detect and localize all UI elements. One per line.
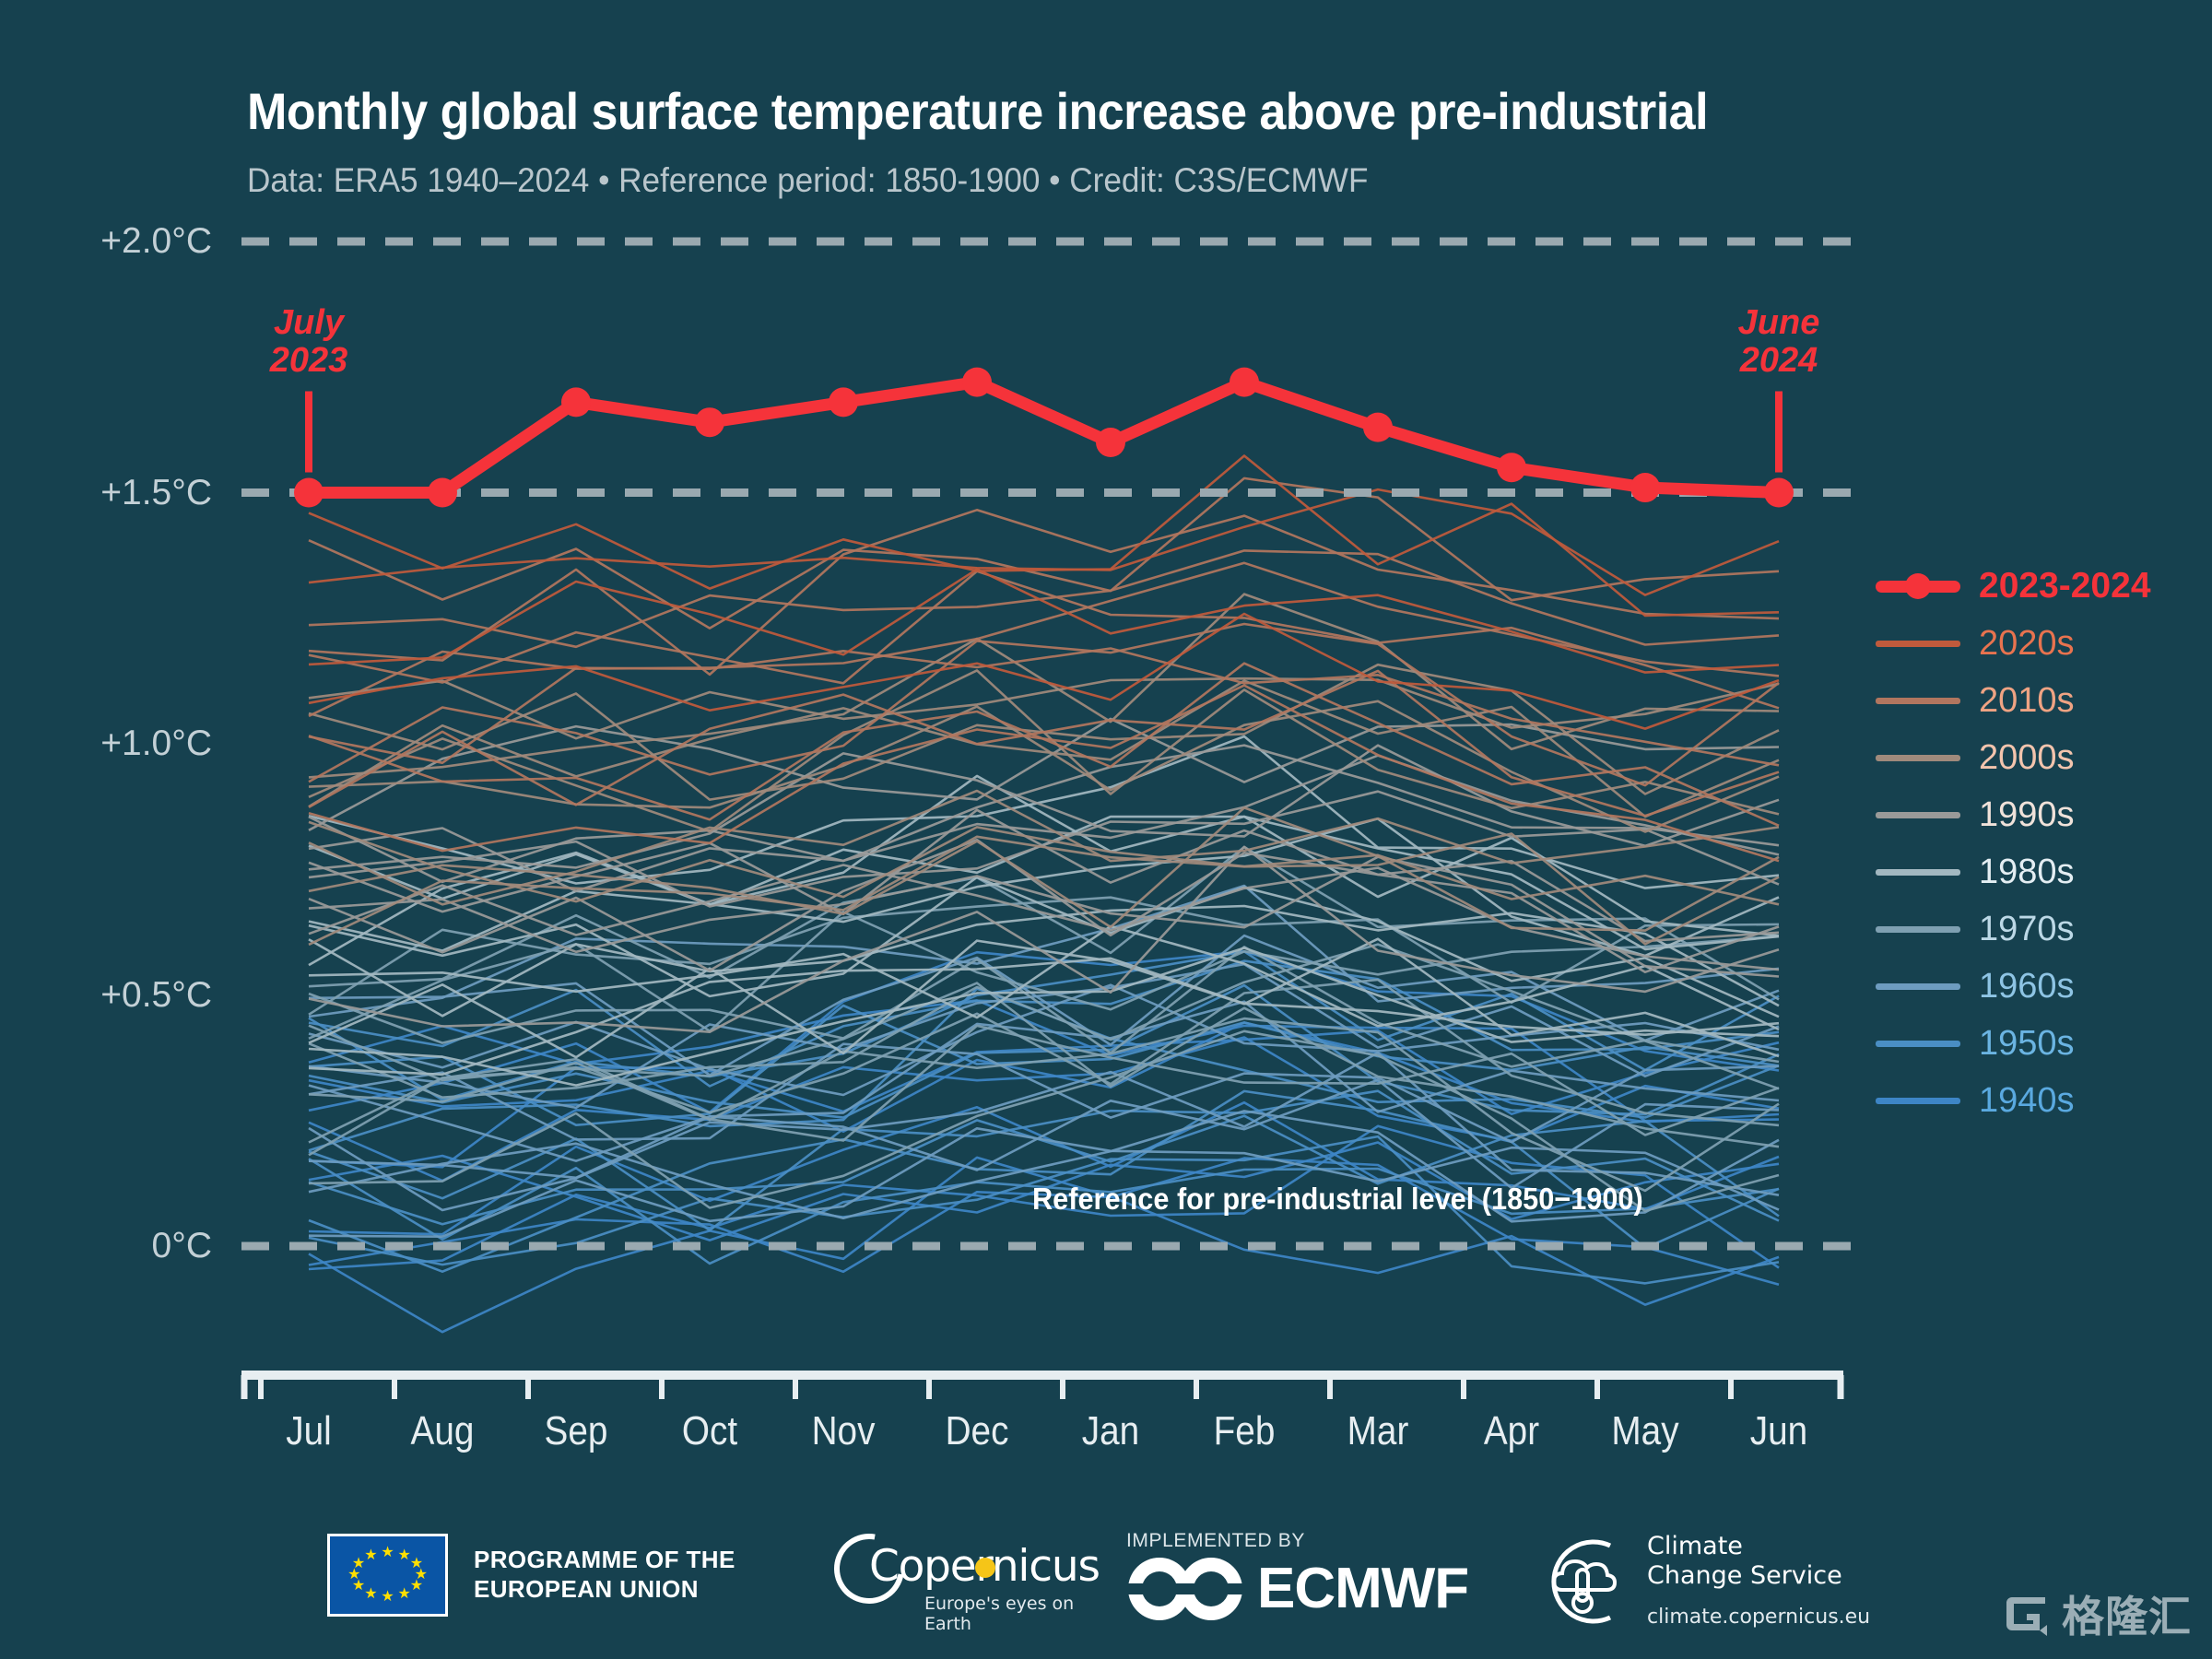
- x-axis-tick-label-nov: Nov: [779, 1408, 909, 1454]
- chart-header: Monthly global surface temperature incre…: [247, 81, 1818, 200]
- year-line-1950s: [309, 961, 1779, 1087]
- year-line-1970s: [309, 1018, 1779, 1191]
- legend-label: 2000s: [1979, 738, 2075, 778]
- year-line-1980s: [309, 817, 1779, 935]
- year-line-2020s: [309, 570, 1779, 673]
- legend-swatch-icon: [1876, 869, 1960, 876]
- legend-item-2023-2024[interactable]: 2023-2024: [1876, 558, 2198, 615]
- year-line-1950s: [309, 951, 1779, 1100]
- eu-star-icon: ★: [381, 1546, 394, 1560]
- year-line-2020s: [309, 489, 1779, 595]
- cloud-thermometer-icon: [1535, 1533, 1630, 1629]
- year-line-1960s: [309, 964, 1779, 1108]
- highlight-point: [1764, 478, 1794, 508]
- x-axis-tick-label-mar: Mar: [1313, 1408, 1443, 1454]
- start-label-line2: 2023: [207, 342, 410, 380]
- highlight-point: [962, 368, 992, 397]
- legend-item-1950s[interactable]: 1950s: [1876, 1015, 2198, 1072]
- legend-swatch-icon: [1876, 983, 1960, 990]
- chart-page: Monthly global surface temperature incre…: [0, 0, 2212, 1659]
- year-line-1940s: [309, 951, 1779, 1112]
- year-line-1970s: [309, 947, 1779, 1066]
- highlight-point: [1096, 428, 1125, 457]
- year-line-1980s: [309, 906, 1779, 1016]
- watermark-logo-icon: [2003, 1592, 2051, 1636]
- chart-subtitle: Data: ERA5 1940–2024 • Reference period:…: [247, 161, 1739, 200]
- highlight-point: [294, 478, 324, 508]
- highlight-point: [1630, 473, 1660, 502]
- year-line-1970s: [309, 945, 1779, 1098]
- year-line-1960s: [309, 935, 1779, 1075]
- legend-item-1970s[interactable]: 1970s: [1876, 900, 2198, 958]
- year-line-2000s: [309, 701, 1779, 832]
- copernicus-logo-block: Copernicus Europe's eyes on Earth: [834, 1532, 1076, 1624]
- legend-swatch-icon: [1876, 1098, 1960, 1104]
- legend-swatch-icon: [1876, 926, 1960, 933]
- c3s-name-line2: Change Service: [1647, 1561, 1870, 1591]
- eu-flag-icon: ★★★★★★★★★★★★: [327, 1534, 448, 1617]
- year-line-1940s: [309, 1000, 1779, 1121]
- eu-text-line1: PROGRAMME OF THE: [474, 1546, 735, 1575]
- legend: 2023-20242020s2010s2000s1990s1980s1970s1…: [1876, 558, 2198, 1129]
- year-line-2010s: [309, 664, 1779, 826]
- x-axis-tick-label-jan: Jan: [1046, 1408, 1176, 1454]
- year-line-1970s: [309, 898, 1779, 1015]
- reference-lines-layer: [241, 241, 1854, 1246]
- year-line-1950s: [309, 1006, 1779, 1125]
- legend-item-2000s[interactable]: 2000s: [1876, 729, 2198, 786]
- year-line-1960s: [309, 985, 1779, 1095]
- legend-item-1990s[interactable]: 1990s: [1876, 786, 2198, 843]
- year-line-1960s: [309, 1002, 1779, 1161]
- year-line-2000s: [309, 678, 1779, 738]
- year-line-2000s: [309, 822, 1779, 904]
- year-line-1990s: [309, 746, 1779, 870]
- x-axis-tick-label-jun: Jun: [1714, 1408, 1844, 1454]
- year-line-2000s: [309, 594, 1779, 778]
- c3s-url: climate.copernicus.eu: [1647, 1606, 1870, 1630]
- legend-item-1980s[interactable]: 1980s: [1876, 843, 2198, 900]
- legend-label: 2020s: [1979, 624, 2075, 664]
- year-line-2000s: [309, 791, 1779, 904]
- highlight-point: [695, 407, 724, 437]
- year-line-1970s: [309, 847, 1779, 999]
- eu-logo-text: PROGRAMME OF THE EUROPEAN UNION: [474, 1546, 735, 1604]
- year-line-1990s: [309, 847, 1779, 1032]
- year-line-1990s: [309, 746, 1779, 882]
- legend-swatch-icon: [1876, 581, 1960, 593]
- year-line-1980s: [309, 776, 1779, 951]
- x-axis-tick-label-may: May: [1581, 1408, 1711, 1454]
- watermark-text: 格隆汇: [2062, 1583, 2192, 1644]
- year-line-1950s: [309, 989, 1779, 1151]
- y-axis-tick-label: +1.5°C: [28, 473, 212, 513]
- highlight-point: [561, 387, 591, 417]
- year-line-1940s: [309, 1030, 1779, 1114]
- year-line-1990s: [309, 840, 1779, 971]
- eu-star-icon: ★: [397, 1548, 410, 1563]
- year-line-2010s: [309, 510, 1779, 675]
- page-title: Monthly global surface temperature incre…: [247, 81, 1708, 141]
- year-line-1980s: [309, 939, 1779, 1057]
- legend-swatch-icon: [1876, 812, 1960, 818]
- eu-star-icon: ★: [381, 1590, 394, 1605]
- x-axis-layer: [241, 1375, 1843, 1399]
- year-line-1980s: [309, 948, 1779, 1086]
- year-line-1960s: [309, 886, 1779, 1017]
- x-axis-tick-label-apr: Apr: [1447, 1408, 1577, 1454]
- copernicus-tagline: Europe's eyes on Earth: [924, 1594, 1076, 1634]
- copernicus-dot-icon: [975, 1558, 995, 1578]
- ecmwf-implemented-by-text: IMPLEMENTED BY: [1126, 1530, 1305, 1552]
- year-line-2010s: [309, 571, 1779, 709]
- year-line-2000s: [309, 665, 1779, 799]
- legend-label: 1990s: [1979, 795, 2075, 835]
- legend-item-2010s[interactable]: 2010s: [1876, 672, 2198, 729]
- y-axis-tick-label: 0°C: [28, 1226, 212, 1266]
- highlight-series-layer: [294, 368, 1794, 508]
- legend-label: 1980s: [1979, 853, 2075, 892]
- x-axis-tick-label-aug: Aug: [378, 1408, 508, 1454]
- legend-label: 2023-2024: [1979, 566, 2151, 606]
- year-line-1990s: [309, 857, 1779, 977]
- eu-text-line2: EUROPEAN UNION: [474, 1575, 735, 1605]
- legend-swatch-icon: [1876, 1041, 1960, 1047]
- year-line-2010s: [309, 686, 1779, 862]
- c3s-name-line1: Climate: [1647, 1532, 1870, 1561]
- x-axis-tick-label-sep: Sep: [512, 1408, 641, 1454]
- year-line-2020s: [309, 614, 1779, 729]
- y-axis-tick-label: +1.0°C: [28, 724, 212, 764]
- year-line-1970s: [309, 912, 1779, 1039]
- end-label: June2024: [1677, 304, 1880, 380]
- c3s-logo-block: Climate Change Service climate.copernicu…: [1535, 1532, 1870, 1630]
- year-line-2010s: [309, 478, 1779, 629]
- year-line-1990s: [309, 756, 1779, 891]
- c3s-name: Climate Change Service: [1647, 1532, 1870, 1591]
- footer: ★★★★★★★★★★★★ PROGRAMME OF THE EUROPEAN U…: [0, 1519, 2212, 1659]
- reference-line-label: Reference for pre-industrial level (1850…: [1032, 1182, 1643, 1217]
- legend-label: 2010s: [1979, 681, 2075, 721]
- eu-star-icon: ★: [364, 1587, 377, 1602]
- legend-label: 1960s: [1979, 967, 2075, 1006]
- highlight-point: [1230, 368, 1259, 397]
- year-line-1940s: [309, 1038, 1779, 1182]
- highlight-point: [428, 478, 457, 508]
- eu-star-icon: ★: [410, 1579, 423, 1594]
- year-line-2010s: [309, 624, 1779, 785]
- eu-star-icon: ★: [352, 1557, 365, 1571]
- watermark: 格隆汇: [2003, 1583, 2192, 1644]
- year-line-1970s: [309, 980, 1779, 1125]
- year-line-1990s: [309, 792, 1779, 907]
- year-line-2020s: [309, 456, 1779, 617]
- eu-star-icon: ★: [397, 1587, 410, 1602]
- legend-item-1940s[interactable]: 1940s: [1876, 1072, 2198, 1129]
- year-line-2010s: [309, 671, 1779, 816]
- annotation-leader-layer: [309, 392, 1779, 473]
- end-label-line2: 2024: [1677, 342, 1880, 380]
- year-line-1980s: [309, 818, 1779, 965]
- x-axis-tick-label-jul: Jul: [244, 1408, 374, 1454]
- legend-item-1960s[interactable]: 1960s: [1876, 958, 2198, 1015]
- highlight-point: [829, 387, 858, 417]
- year-line-2010s: [309, 550, 1779, 646]
- legend-swatch-icon: [1876, 755, 1960, 761]
- year-line-1980s: [309, 877, 1779, 1017]
- year-line-1990s: [309, 810, 1779, 941]
- highlight-point: [1363, 413, 1393, 442]
- y-axis-tick-label: +2.0°C: [28, 221, 212, 262]
- legend-label: 1970s: [1979, 910, 2075, 949]
- year-line-1960s: [309, 1044, 1779, 1142]
- year-line-1940s: [309, 1023, 1779, 1168]
- ecmwf-circles-icon: [1126, 1556, 1244, 1622]
- year-line-1940s: [309, 1159, 1779, 1285]
- start-label: July2023: [207, 304, 410, 380]
- ecmwf-logo-block: IMPLEMENTED BY ECMWF: [1126, 1530, 1468, 1622]
- year-line-2000s: [309, 681, 1779, 817]
- year-line-1980s: [309, 926, 1779, 1030]
- highlight-line-2023-2024: [309, 382, 1779, 493]
- year-line-1980s: [309, 959, 1779, 1075]
- legend-swatch-icon: [1876, 641, 1960, 647]
- year-line-2000s: [309, 670, 1779, 831]
- year-line-1970s: [309, 983, 1779, 1147]
- year-line-2000s: [309, 807, 1779, 930]
- x-axis-tick-label-oct: Oct: [645, 1408, 775, 1454]
- year-line-1990s: [309, 865, 1779, 971]
- eu-star-icon: ★: [364, 1548, 377, 1563]
- y-axis-tick-label: +0.5°C: [28, 975, 212, 1016]
- x-axis-tick-label-feb: Feb: [1180, 1408, 1310, 1454]
- highlight-point: [1497, 453, 1526, 482]
- x-axis-tick-label-dec: Dec: [912, 1408, 1042, 1454]
- end-label-line1: June: [1677, 304, 1880, 342]
- year-line-2010s: [309, 649, 1779, 766]
- legend-label: 1940s: [1979, 1081, 2075, 1121]
- legend-item-2020s[interactable]: 2020s: [1876, 615, 2198, 672]
- eu-logo-block: ★★★★★★★★★★★★ PROGRAMME OF THE EUROPEAN U…: [327, 1534, 735, 1617]
- year-line-2010s: [309, 563, 1779, 716]
- legend-swatch-icon: [1876, 698, 1960, 704]
- year-line-1970s: [309, 1026, 1779, 1155]
- year-line-1960s: [309, 1080, 1779, 1188]
- ecmwf-name: ECMWF: [1257, 1562, 1468, 1617]
- legend-label: 1950s: [1979, 1024, 2075, 1064]
- year-line-1980s: [309, 736, 1779, 888]
- start-label-line1: July: [207, 304, 410, 342]
- year-line-2000s: [309, 834, 1779, 945]
- year-line-1950s: [309, 985, 1779, 1118]
- year-line-1990s: [309, 719, 1779, 830]
